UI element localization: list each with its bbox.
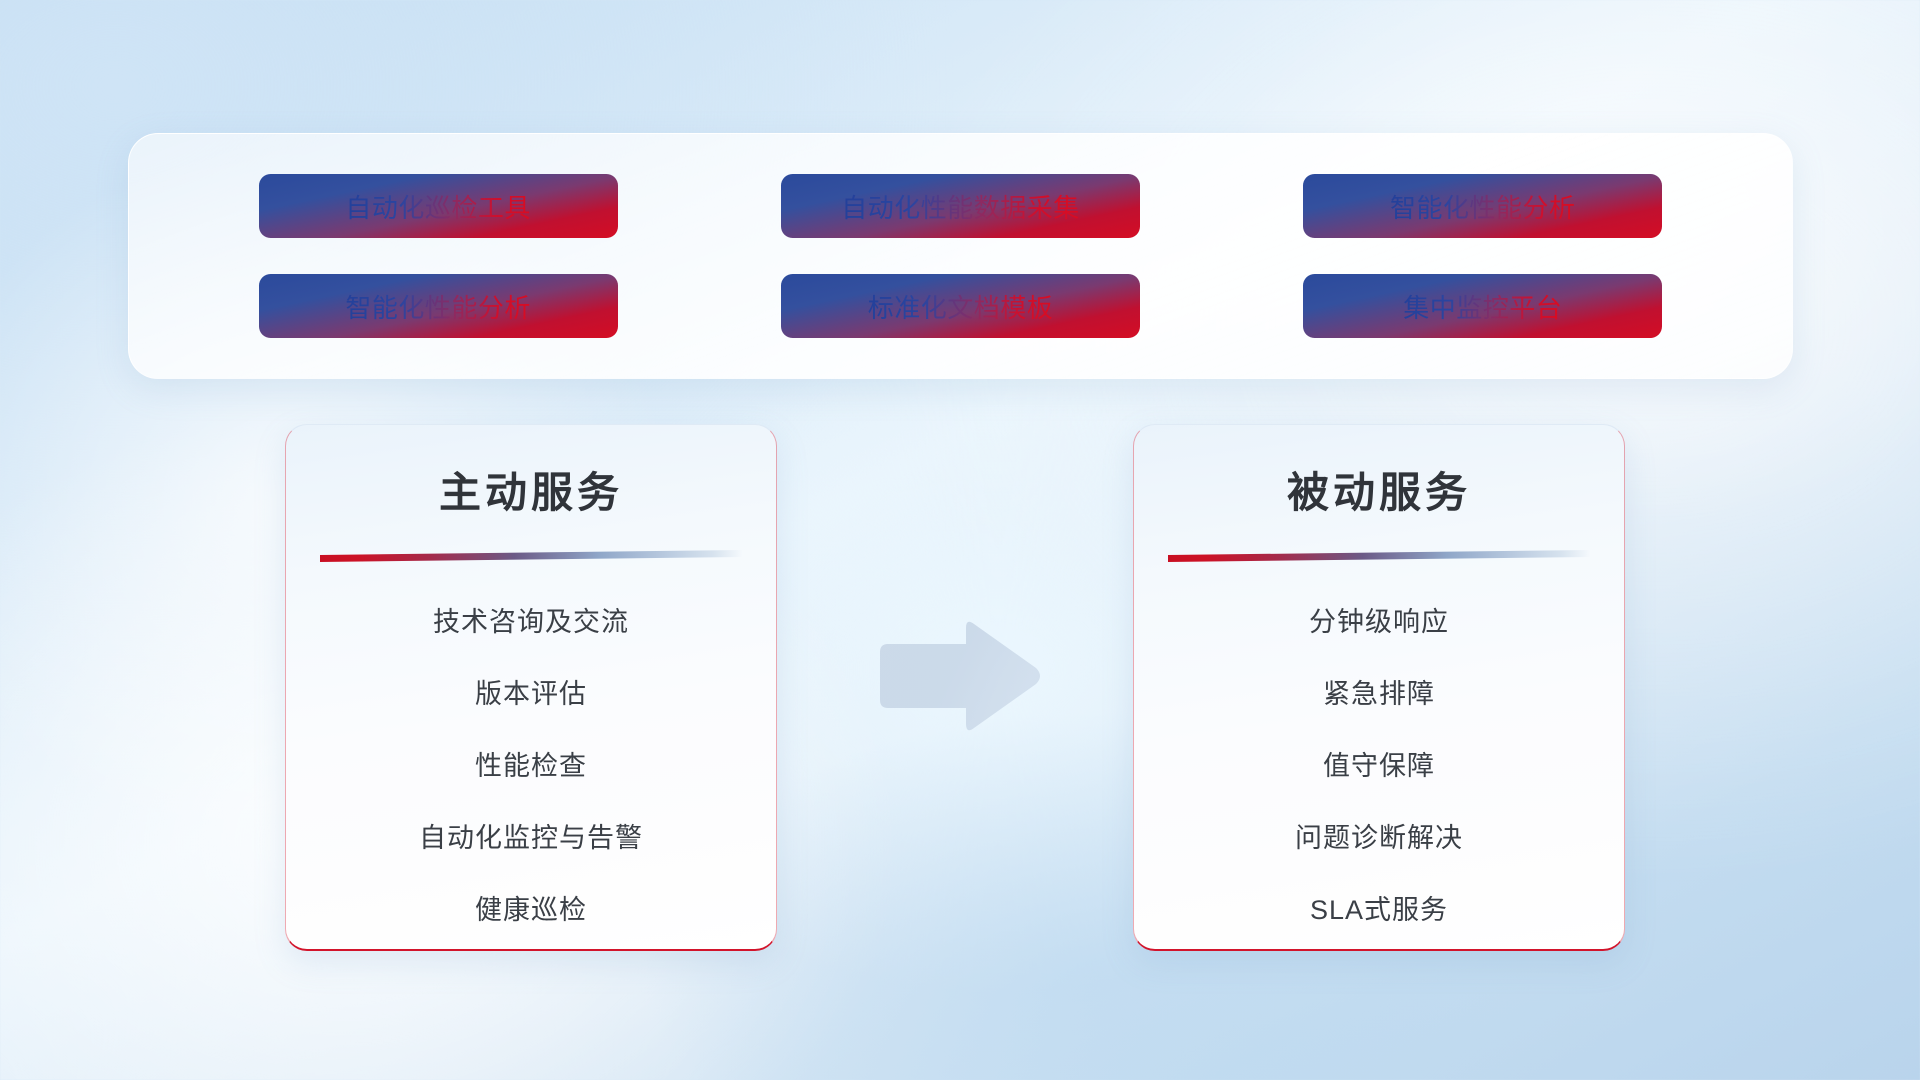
list-item: 自动化监控与告警 (419, 812, 643, 864)
card-divider (320, 550, 742, 562)
card-title: 主动服务 (286, 459, 776, 520)
right-arrow-icon (874, 616, 1044, 736)
capability-pill-label: 智能化性能分析 (345, 288, 531, 325)
capability-pill-label: 标准化文档模板 (868, 288, 1054, 325)
list-item: 健康巡检 (475, 884, 587, 936)
card-item-list: 技术咨询及交流 版本评估 性能检查 自动化监控与告警 健康巡检 (286, 596, 776, 936)
capability-pill-2[interactable]: 自动化性能数据采集 (782, 176, 1138, 236)
list-item: 版本评估 (475, 668, 587, 720)
capabilities-panel: 自动化巡检工具 自动化性能数据采集 智能化性能分析 智能化性能分析 标准化文档模… (128, 133, 1793, 379)
capability-pill-3[interactable]: 智能化性能分析 (1305, 176, 1661, 236)
capability-pill-label: 自动化性能数据采集 (841, 188, 1080, 225)
list-item: 问题诊断解决 (1295, 812, 1463, 864)
card-divider (1168, 550, 1590, 562)
list-item: 紧急排障 (1323, 668, 1435, 720)
list-item: 性能检查 (475, 740, 587, 792)
list-item: 值守保障 (1323, 740, 1435, 792)
service-card-reactive: 被动服务 分钟级响应 紧急排障 值守保障 问题诊断解决 SLA式服务 (1133, 424, 1625, 951)
capability-pill-4[interactable]: 智能化性能分析 (260, 276, 616, 336)
service-card-proactive: 主动服务 技术咨询及交流 版本评估 性能检查 自动化监控与告警 健康巡检 (285, 424, 777, 951)
capability-pill-label: 集中监控平台 (1403, 288, 1562, 325)
capability-pill-label: 智能化性能分析 (1390, 188, 1576, 225)
capability-pill-1[interactable]: 自动化巡检工具 (260, 176, 616, 236)
card-item-list: 分钟级响应 紧急排障 值守保障 问题诊断解决 SLA式服务 (1134, 596, 1624, 936)
capability-pill-6[interactable]: 集中监控平台 (1305, 276, 1661, 336)
list-item: SLA式服务 (1310, 884, 1448, 936)
list-item: 技术咨询及交流 (433, 596, 629, 648)
capability-pill-5[interactable]: 标准化文档模板 (782, 276, 1138, 336)
card-title: 被动服务 (1134, 459, 1624, 520)
capability-pill-label: 自动化巡检工具 (345, 188, 531, 225)
capability-pill-grid: 自动化巡检工具 自动化性能数据采集 智能化性能分析 智能化性能分析 标准化文档模… (177, 176, 1744, 336)
list-item: 分钟级响应 (1309, 596, 1449, 648)
